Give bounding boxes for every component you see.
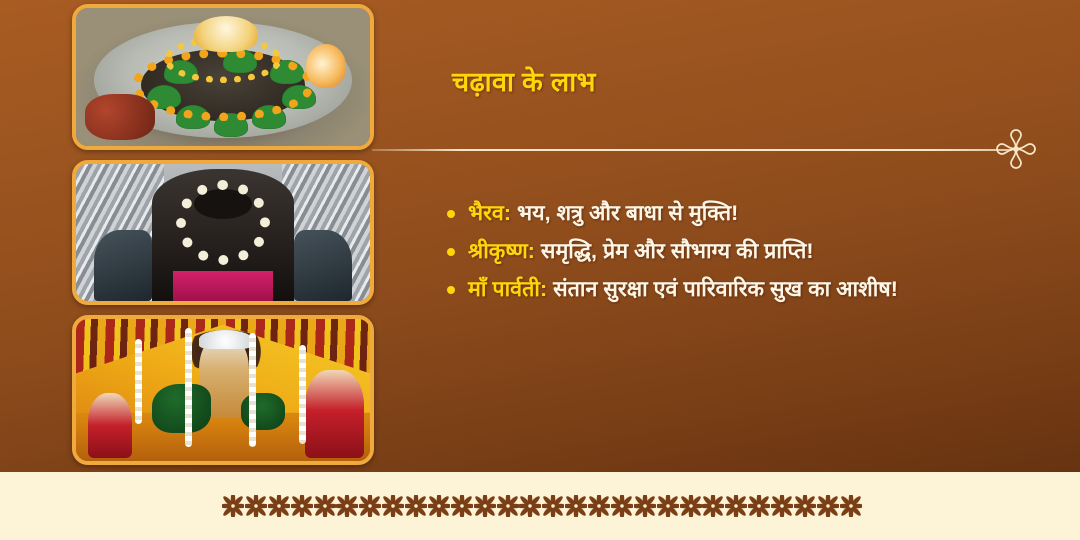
page-title: चढ़ावा के लाभ bbox=[452, 62, 972, 99]
silver-crown-shape bbox=[199, 330, 252, 348]
deity-robe-shape bbox=[173, 271, 273, 301]
flower-motif-icon bbox=[336, 495, 358, 517]
flower-motif-icon bbox=[519, 495, 541, 517]
krishna-shringar-photo bbox=[72, 315, 374, 465]
flower-motif-icon bbox=[588, 495, 610, 517]
flower-motif-icon bbox=[794, 495, 816, 517]
flower-motif-icon bbox=[314, 495, 336, 517]
deity-name: भैरव: bbox=[468, 201, 511, 225]
footer-band bbox=[0, 472, 1080, 540]
flower-motif-icon bbox=[542, 495, 564, 517]
bullet-text: श्रीकृष्ण: समृद्धि, प्रेम और सौभाग्य की … bbox=[468, 236, 968, 268]
bullet-dot-icon bbox=[447, 248, 455, 256]
flower-motif-icon bbox=[840, 495, 862, 517]
flower-motif-icon bbox=[405, 495, 427, 517]
white-garland-shape bbox=[176, 180, 270, 265]
aarti-flame-shape bbox=[306, 44, 346, 88]
attendant-deity-left bbox=[88, 393, 132, 458]
green-drape-left bbox=[152, 384, 211, 432]
flower-motif-icon bbox=[817, 495, 839, 517]
flower-motif-icon bbox=[634, 495, 656, 517]
bullet-dot-icon bbox=[447, 210, 455, 218]
flower-border-decoration bbox=[222, 486, 862, 526]
bullet-text: माँ पार्वती: संतान सुरक्षा एवं पारिवारिक… bbox=[468, 274, 968, 306]
list-item: माँ पार्वती: संतान सुरक्षा एवं पारिवारिक… bbox=[438, 274, 968, 306]
flower-motif-icon bbox=[565, 495, 587, 517]
fruit-offering-shape bbox=[85, 94, 155, 140]
shiv-ling-artwork bbox=[76, 8, 370, 146]
flower-motif-icon bbox=[771, 495, 793, 517]
bullet-text: भैरव: भय, शत्रु और बाधा से मुक्ति! bbox=[468, 198, 968, 230]
bhairav-artwork bbox=[76, 164, 370, 301]
flower-motif-icon bbox=[222, 495, 244, 517]
slide-canvas: चढ़ावा के लाभ भैरव: भय, शत्रु और बाधा से… bbox=[0, 0, 1080, 540]
flower-motif-icon bbox=[497, 495, 519, 517]
image-gallery bbox=[72, 4, 374, 465]
flower-motif-icon bbox=[291, 495, 313, 517]
dog-statue-right bbox=[294, 230, 353, 301]
dog-statue-left bbox=[94, 230, 153, 301]
flower-motif-icon bbox=[428, 495, 450, 517]
shiv-ling-offering-photo bbox=[72, 4, 374, 150]
flower-motif-icon bbox=[451, 495, 473, 517]
deity-name: श्रीकृष्ण: bbox=[468, 239, 535, 263]
divider-line bbox=[372, 149, 1012, 151]
flower-motif-icon bbox=[680, 495, 702, 517]
flower-motif-icon bbox=[611, 495, 633, 517]
bullet-dot-icon bbox=[447, 286, 455, 294]
list-item: भैरव: भय, शत्रु और बाधा से मुक्ति! bbox=[438, 198, 968, 230]
benefits-list: भैरव: भय, शत्रु और बाधा से मुक्ति! श्रीक… bbox=[438, 198, 968, 311]
flower-motif-icon bbox=[474, 495, 496, 517]
flower-motif-icon bbox=[382, 495, 404, 517]
knot-ornament-icon bbox=[994, 127, 1038, 171]
flower-motif-icon bbox=[268, 495, 290, 517]
flower-motif-icon bbox=[245, 495, 267, 517]
krishna-artwork bbox=[76, 319, 370, 461]
bhairav-darshan-photo bbox=[72, 160, 374, 305]
benefit-text: समृद्धि, प्रेम और सौभाग्य की प्राप्ति! bbox=[535, 239, 814, 263]
attendant-deity-right bbox=[305, 370, 364, 458]
flower-motif-icon bbox=[748, 495, 770, 517]
benefit-text: संतान सुरक्षा एवं पारिवारिक सुख का आशीष! bbox=[547, 277, 898, 301]
flower-motif-icon bbox=[725, 495, 747, 517]
flower-motif-icon bbox=[702, 495, 724, 517]
flower-crown-shape bbox=[194, 16, 259, 52]
green-drape-right bbox=[241, 393, 285, 430]
list-item: श्रीकृष्ण: समृद्धि, प्रेम और सौभाग्य की … bbox=[438, 236, 968, 268]
deity-name: माँ पार्वती: bbox=[468, 277, 547, 301]
benefit-text: भय, शत्रु और बाधा से मुक्ति! bbox=[511, 201, 738, 225]
flower-motif-icon bbox=[657, 495, 679, 517]
flower-motif-icon bbox=[359, 495, 381, 517]
